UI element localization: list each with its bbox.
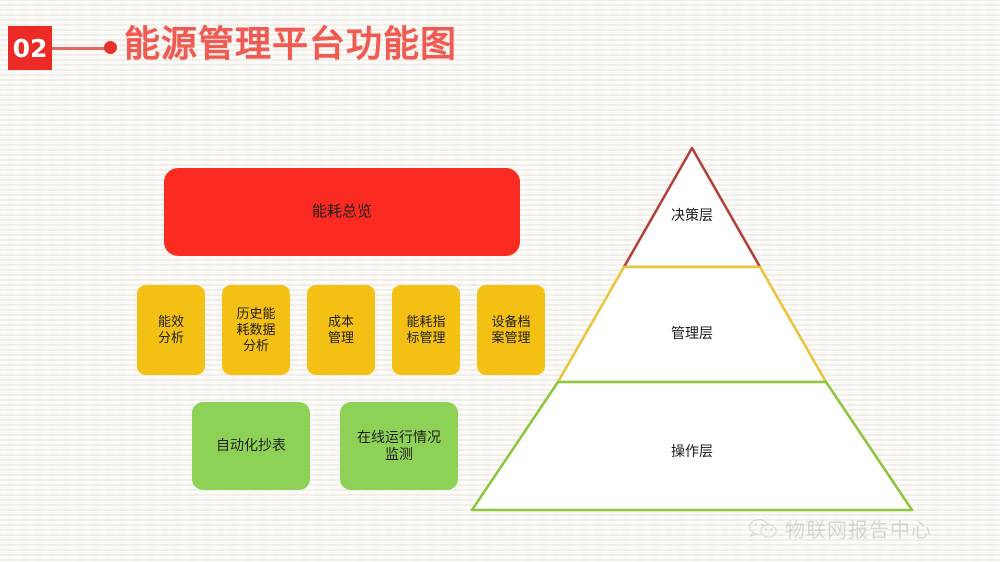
function-block-management-4[interactable]: 能耗指 标管理 [392, 285, 460, 375]
header-bullet-dot [104, 41, 117, 54]
watermark-text: 物联网报告中心 [785, 514, 932, 543]
function-block-management-3[interactable]: 成本 管理 [307, 285, 375, 375]
function-block-management-2[interactable]: 历史能 耗数据 分析 [222, 285, 290, 375]
pyramid-label-decision: 决策层 [671, 205, 713, 225]
function-block-label: 成本 管理 [328, 314, 354, 346]
function-block-label: 自动化抄表 [216, 437, 286, 454]
function-block-label: 能效 分析 [158, 314, 184, 346]
pyramid-diagram: 决策层 管理层 操作层 [462, 138, 922, 522]
wechat-icon [748, 518, 778, 540]
function-block-label: 能耗指 标管理 [406, 314, 445, 346]
pyramid-label-operation: 操作层 [671, 441, 713, 461]
section-number-badge: 02 [8, 26, 52, 70]
header-connector-line [52, 47, 107, 50]
function-block-operation-2[interactable]: 在线运行情况 监测 [340, 402, 458, 490]
page-title: 能源管理平台功能图 [124, 22, 457, 66]
function-block-label: 在线运行情况 监测 [357, 429, 441, 463]
slide-canvas: 02 能源管理平台功能图 能耗总览 能效 分析 历史能 耗数据 分析 成本 管理… [0, 0, 1000, 562]
function-block-label: 能耗总览 [312, 203, 372, 221]
function-block-operation-1[interactable]: 自动化抄表 [192, 402, 310, 490]
function-block-label: 历史能 耗数据 分析 [236, 306, 275, 354]
watermark: 物联网报告中心 [748, 514, 932, 543]
section-number-text: 02 [13, 36, 48, 61]
function-block-management-1[interactable]: 能效 分析 [137, 285, 205, 375]
pyramid-label-management: 管理层 [671, 323, 713, 343]
